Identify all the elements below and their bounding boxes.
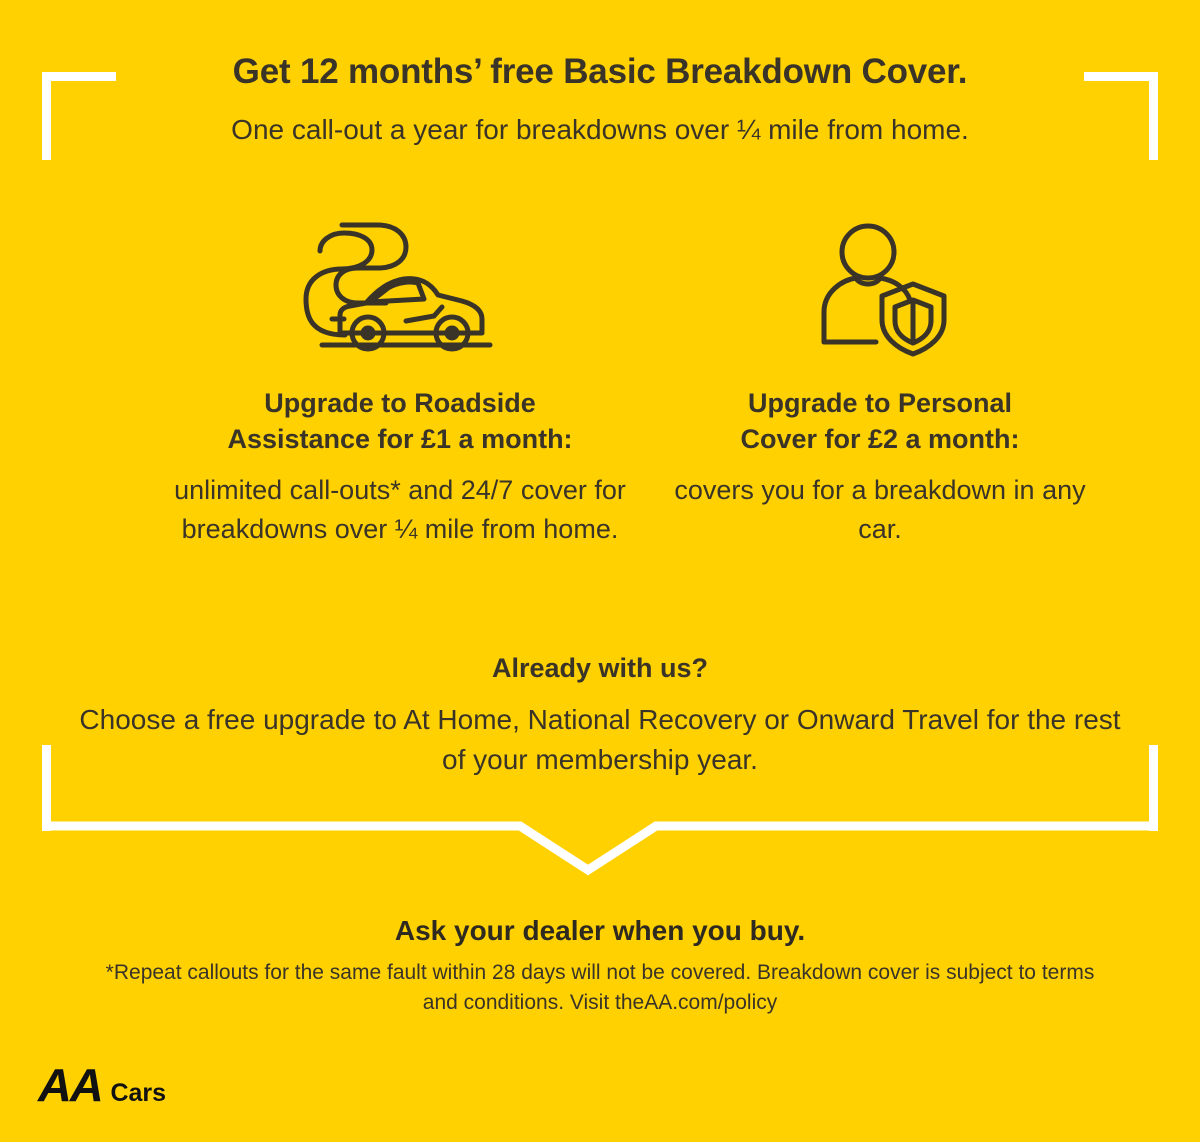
feature-title-roadside-line2: Assistance for £1 a month: xyxy=(227,424,572,454)
aa-logo-wordmark: Cars xyxy=(110,1079,166,1108)
feature-title-roadside: Upgrade to Roadside Assistance for £1 a … xyxy=(227,386,572,457)
aa-logo-mark: AA xyxy=(38,1058,102,1112)
feature-title-personal-line1: Upgrade to Personal xyxy=(748,388,1012,418)
page-title: Get 12 months’ free Basic Breakdown Cove… xyxy=(0,52,1200,92)
feature-body-personal: covers you for a breakdown in any car. xyxy=(665,471,1095,549)
feature-title-personal-line2: Cover for £2 a month: xyxy=(740,424,1019,454)
page-subtitle: One call-out a year for breakdowns over … xyxy=(0,112,1200,147)
feature-column-roadside: Upgrade to Roadside Assistance for £1 a … xyxy=(165,210,635,550)
already-with-us-body: Choose a free upgrade to At Home, Nation… xyxy=(70,700,1130,781)
aa-cars-logo: AA Cars xyxy=(38,1058,166,1112)
feature-body-roadside: unlimited call-outs* and 24/7 cover for … xyxy=(165,471,635,549)
feature-column-personal: Upgrade to Personal Cover for £2 a month… xyxy=(665,210,1095,550)
feature-title-personal: Upgrade to Personal Cover for £2 a month… xyxy=(740,386,1019,457)
infographic-canvas: Get 12 months’ free Basic Breakdown Cove… xyxy=(0,0,1200,1142)
feature-title-roadside-line1: Upgrade to Roadside xyxy=(264,388,536,418)
bracket-bottom-chevron xyxy=(38,812,1164,884)
disclaimer-text: *Repeat callouts for the same fault with… xyxy=(90,958,1110,1018)
person-with-shield-icon xyxy=(810,210,950,370)
already-with-us-title: Already with us? xyxy=(0,653,1200,684)
feature-columns: Upgrade to Roadside Assistance for £1 a … xyxy=(0,210,1200,550)
call-to-action-title: Ask your dealer when you buy. xyxy=(0,915,1200,947)
car-on-winding-road-icon xyxy=(300,210,500,370)
